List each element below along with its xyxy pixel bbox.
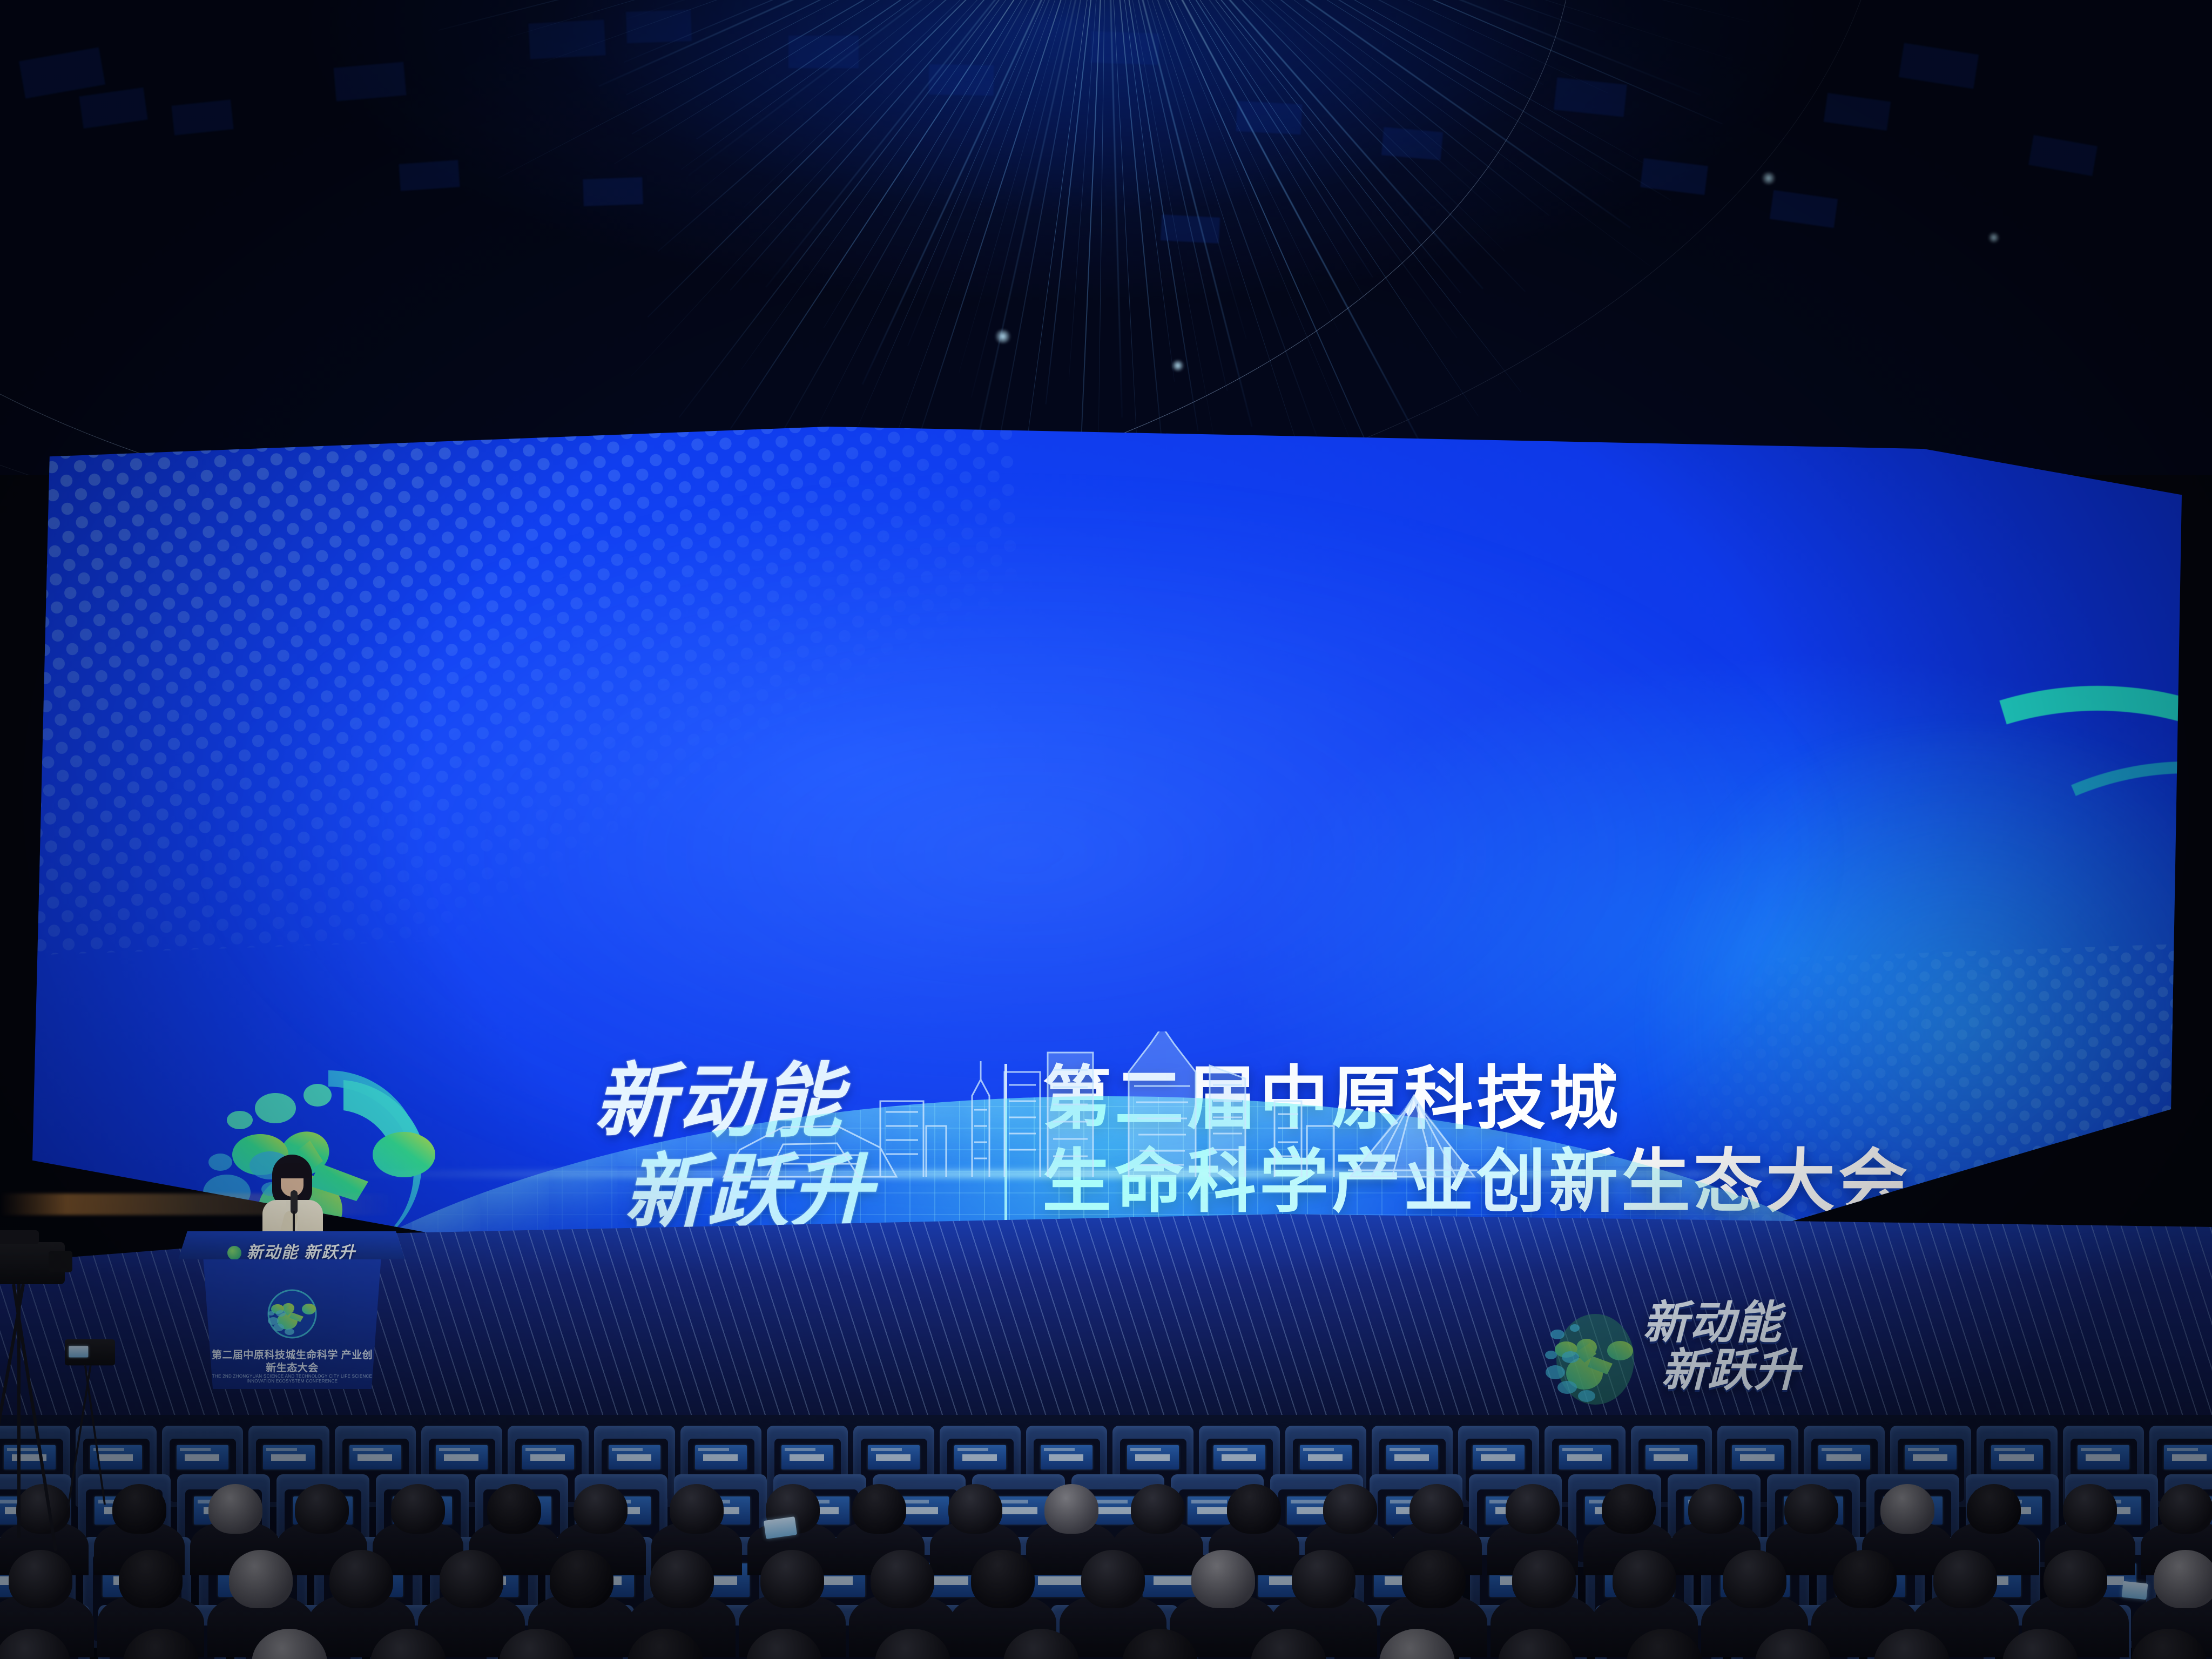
namecard-header-line (439, 1448, 470, 1451)
audience-person-head (1688, 1484, 1742, 1534)
speaker-hair-front (274, 1163, 310, 1178)
namecard-header-line (1303, 1448, 1334, 1451)
seat-namecard (1991, 1445, 2043, 1469)
audience-person-head (391, 1484, 445, 1534)
audience-person-head (871, 1550, 934, 1608)
namecard-header-line (2167, 1448, 2198, 1451)
audience-person-head (1880, 1484, 1934, 1534)
namecard-name-line (1913, 1454, 1947, 1461)
namecard-header-line (612, 1448, 643, 1451)
audience-person-head (971, 1550, 1035, 1608)
camera-lens-icon (49, 1251, 72, 1272)
audience-person-head (1227, 1484, 1281, 1534)
audience-person-head (229, 1550, 293, 1608)
camera-tripod (17, 1284, 21, 1538)
audience-person-head (1833, 1550, 1897, 1608)
namecard-header-line (1649, 1448, 1680, 1451)
audience-person-head (2159, 1484, 2212, 1534)
audience-person-head (1081, 1550, 1145, 1608)
namecard-name-line (1308, 1454, 1342, 1461)
namecard-name-line (271, 1454, 305, 1461)
audience-person-head (1191, 1550, 1255, 1608)
namecard-name-line (1654, 1454, 1688, 1461)
namecard-header-line (785, 1448, 816, 1451)
audience-person-head (487, 1484, 541, 1534)
audience-person-head (550, 1550, 613, 1608)
podium-and-speaker: 新动能 新跃升 (178, 1107, 405, 1388)
smartphone-recording (2122, 1581, 2148, 1600)
namecard-name-line (617, 1454, 651, 1461)
audience-person-head (2063, 1484, 2117, 1534)
seat-namecard (1732, 1445, 1784, 1469)
stage-sign-text: 新动能 新跃升 (1643, 1299, 1800, 1394)
seat-namecard (1905, 1445, 1957, 1469)
namecard-name-line (1038, 1576, 1083, 1585)
seat-namecard (1127, 1445, 1179, 1469)
namecard-header-line (180, 1448, 211, 1451)
audience-person-head (760, 1550, 824, 1608)
audience-person-head (1967, 1484, 2021, 1534)
audience-person-head (1602, 1484, 1656, 1534)
podium-title-en: THE 2ND ZHONGYUAN SCIENCE AND TECHNOLOGY… (208, 1374, 376, 1384)
namecard-name-line (1740, 1454, 1774, 1461)
namecard-header-line (871, 1448, 902, 1451)
audience-person-head (9, 1550, 72, 1608)
audience-person-head (329, 1550, 393, 1608)
audience-person-head (1723, 1550, 1786, 1608)
namecard-name-line (444, 1454, 478, 1461)
audience-person-head (16, 1484, 70, 1534)
namecard-header-line (2081, 1448, 2112, 1451)
namecard-name-line (999, 1507, 1038, 1514)
ceiling-light-blob-4 (1987, 232, 2000, 243)
ceiling-light-blob-3 (1761, 172, 1777, 185)
namecard-name-line (358, 1454, 392, 1461)
seat-namecard (781, 1445, 833, 1469)
namecard-name-line (1567, 1454, 1601, 1461)
audience-person-head (295, 1484, 349, 1534)
namecard-name-line (1222, 1454, 1256, 1461)
audience-person-head (1131, 1484, 1185, 1534)
namecard-name-line (876, 1454, 910, 1461)
namecard-header-line (1994, 1448, 2026, 1451)
molecule-globe-logo (1539, 1303, 1636, 1411)
audience-person-head (1512, 1550, 1576, 1608)
audience-person-head (1506, 1484, 1560, 1534)
namecard-name-line (962, 1454, 996, 1461)
namecard-name-line (1826, 1454, 1860, 1461)
namecard-header-line (1044, 1448, 1075, 1451)
namecard-name-line (1481, 1454, 1515, 1461)
namecard-name-line (1049, 1454, 1083, 1461)
audience-person-head (2154, 1550, 2212, 1608)
namecard-name-line (185, 1454, 219, 1461)
podium-banner: 新动能 新跃升 (178, 1239, 405, 1263)
camera-viewfinder (0, 1230, 39, 1244)
seat-namecard (1213, 1445, 1265, 1469)
audience-person-head (440, 1550, 503, 1608)
namecard-header-line (1562, 1448, 1594, 1451)
seat-namecard (1559, 1445, 1611, 1469)
audience-person-head (1402, 1550, 1466, 1608)
seat-namecard (1386, 1445, 1438, 1469)
seat-namecard (263, 1445, 315, 1469)
audience-person-head (1784, 1484, 1838, 1534)
namecard-name-line (790, 1454, 824, 1461)
namecard-header-line (353, 1448, 384, 1451)
sign-line-2: 新跃升 (1661, 1346, 1800, 1394)
auditorium-ceiling (0, 0, 2212, 475)
audience-person-head (208, 1484, 262, 1534)
namecard-header-line (1291, 1500, 1326, 1503)
namecard-name-line (1999, 1454, 2033, 1461)
audience-person-head (852, 1484, 906, 1534)
namecard-header-line (1130, 1448, 1162, 1451)
audience-seating-area (0, 1415, 2212, 1659)
seat-namecard (1645, 1445, 1697, 1469)
seat-namecard (2078, 1445, 2129, 1469)
seat-namecard (349, 1445, 401, 1469)
namecard-name-line (1394, 1454, 1428, 1461)
audience-person-head (574, 1484, 628, 1534)
namecard-name-line (530, 1454, 564, 1461)
audience-person-head (119, 1550, 183, 1608)
namecard-header-line (957, 1448, 989, 1451)
namecard-header-line (1217, 1448, 1248, 1451)
seat-namecard (2164, 1445, 2212, 1469)
audience-person-head (1292, 1550, 1355, 1608)
audience-person-head (1933, 1550, 1997, 1608)
seat-namecard (177, 1445, 228, 1469)
namecard-header-line (7, 1448, 38, 1451)
seat-namecard (609, 1445, 660, 1469)
namecard-name-line (1135, 1454, 1169, 1461)
seat-namecard (1300, 1445, 1352, 1469)
ceiling-light-blob-2 (1171, 360, 1185, 372)
camera-monitor-screen (69, 1346, 88, 1357)
speaker-person (260, 1155, 325, 1241)
audience-person-head (1323, 1484, 1377, 1534)
molecule-globe-logo (264, 1285, 321, 1343)
podium-logo-dot-icon (227, 1246, 241, 1260)
seat-namecard (1473, 1445, 1525, 1469)
seat-namecard (4, 1445, 56, 1469)
seat-namecard (695, 1445, 747, 1469)
seat-namecard (1818, 1445, 1870, 1469)
audience-person-head (670, 1484, 724, 1534)
podium-banner-text: 新动能 新跃升 (247, 1244, 356, 1262)
namecard-header-line (1476, 1448, 1507, 1451)
audience-person-head (650, 1550, 714, 1608)
namecard-name-line (2172, 1454, 2206, 1461)
namecard-header-line (1735, 1448, 1766, 1451)
namecard-name-line (2086, 1454, 2120, 1461)
audience-person-head (1410, 1484, 1464, 1534)
seat-namecard (1041, 1445, 1092, 1469)
namecard-header-line (1191, 1500, 1227, 1503)
conference-stage-photo: 新动能 新跃升 第二届中原科技城 生命科学产业创新生态大会 THE 2ND ZH… (0, 0, 2212, 1659)
seat-namecard (954, 1445, 1006, 1469)
ceiling-light-blob-1 (994, 329, 1012, 343)
namecard-header-line (525, 1448, 557, 1451)
audience-person-head (948, 1484, 1002, 1534)
namecard-header-line (1390, 1448, 1421, 1451)
podium-title-cn: 第二届中原科技城生命科学 产业创新生态大会 (208, 1349, 376, 1375)
audience-person-head (2044, 1550, 2107, 1608)
audience-person-head (112, 1484, 166, 1534)
namecard-header-line (698, 1448, 730, 1451)
namecard-header-line (1908, 1448, 1939, 1451)
namecard-header-line (1822, 1448, 1853, 1451)
namecard-header-line (266, 1448, 298, 1451)
namecard-name-line (703, 1454, 737, 1461)
seat-namecard (436, 1445, 488, 1469)
zhengzhou-skyline-silhouette (702, 1031, 1512, 1185)
seat-namecard (868, 1445, 920, 1469)
audience-person-head (1044, 1484, 1098, 1534)
seat-namecard (522, 1445, 574, 1469)
audience-person-head (1613, 1550, 1676, 1608)
namecard-name-line (98, 1454, 132, 1461)
sign-line-1: 新动能 (1643, 1297, 1782, 1348)
